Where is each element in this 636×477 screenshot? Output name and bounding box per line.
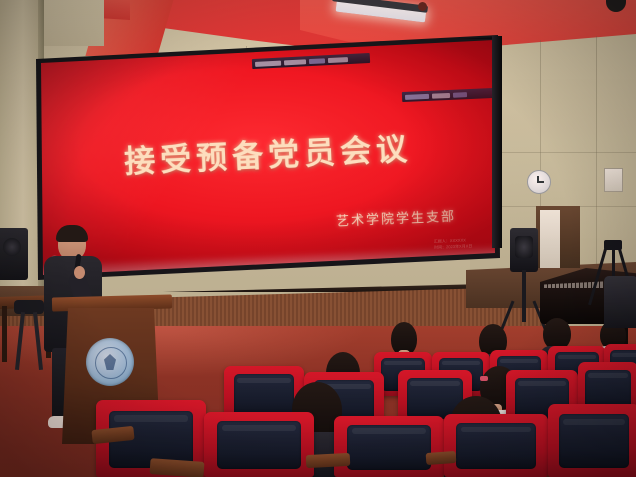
auditorium-photo: 接受预备党员会议 艺术学院学生支部 汇报人：XXXXXX 时间：2023年X月X… (0, 0, 636, 477)
wall-mounted-control-box (604, 168, 623, 192)
hair-clip-icon (480, 376, 488, 381)
stool-leg (15, 312, 25, 370)
tripod-head (604, 240, 622, 250)
seat-armrest (306, 453, 351, 468)
wall-clock-icon (527, 170, 551, 194)
panel-seam (596, 36, 597, 264)
auditorium-seat[interactable] (334, 416, 444, 477)
presenter-hand (74, 266, 85, 279)
seat-pad (456, 423, 535, 470)
stool (14, 300, 44, 370)
auditorium-seat[interactable] (204, 412, 314, 477)
stool-seat (14, 300, 44, 314)
university-crest-icon (86, 338, 134, 386)
seat-pad (217, 421, 301, 469)
seat-armrest (150, 458, 205, 477)
ceiling-sensor-icon (418, 2, 427, 11)
side-table-leg (2, 306, 7, 362)
loudspeaker-right (510, 228, 538, 272)
loudspeaker-left (0, 228, 28, 280)
speaker-stand-pole (522, 270, 526, 322)
seat-armrest (426, 451, 457, 465)
auditorium-seat[interactable] (444, 414, 548, 477)
auditorium-seat[interactable] (604, 276, 636, 328)
seat-pad (559, 414, 629, 468)
auditorium-seat[interactable] (548, 404, 636, 477)
presenter-hair (56, 225, 88, 242)
led-frame-right (492, 36, 502, 248)
seat-pad (347, 425, 431, 470)
